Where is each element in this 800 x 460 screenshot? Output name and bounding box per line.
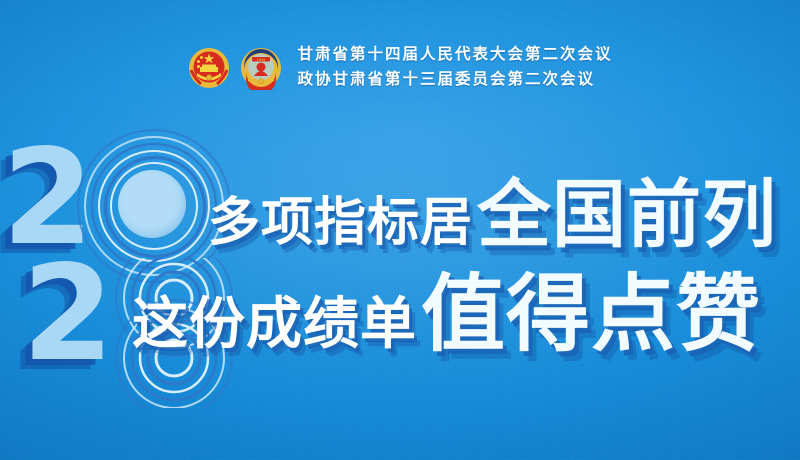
headline-line-2: 这份成绩单 值得点赞 [132, 272, 761, 356]
digit-0-ring-4 [91, 143, 217, 269]
headline-2-big: 值得点赞 [421, 272, 761, 356]
emblem-group: 1949 [187, 46, 283, 90]
headline-1-small: 多项指标居 [208, 197, 473, 249]
digit-0-ring-1 [110, 162, 198, 250]
header-line-cppcc: 政协甘肃省第十三届委员会第二次会议 [297, 69, 612, 91]
conference-header: 1949 甘肃省第十四届人民代表大会第二次会议 政协甘肃省第十三届委员会第二次会… [0, 44, 800, 91]
headline-line-1: 多项指标居 全国前列 [208, 178, 777, 252]
national-emblem-icon [187, 46, 231, 90]
header-line-npc: 甘肃省第十四届人民代表大会第二次会议 [297, 44, 612, 66]
cppcc-emblem-icon: 1949 [239, 46, 283, 90]
digit-0-core [118, 170, 186, 238]
poster-canvas: 2 2 [0, 0, 800, 460]
digit-0-ring-3 [98, 150, 210, 262]
decorative-digit-0 [96, 148, 208, 260]
header-title-group: 甘肃省第十四届人民代表大会第二次会议 政协甘肃省第十三届委员会第二次会议 [297, 44, 612, 91]
decorative-digit-2-bottom: 2 [22, 248, 114, 380]
digit-0-ring-2 [104, 156, 206, 258]
headline-1-big: 全国前列 [477, 178, 777, 252]
headline-2-small: 这份成绩单 [132, 296, 417, 352]
decorative-digit-2-top: 2 [2, 132, 94, 264]
digit-0-ring-5 [84, 136, 224, 276]
svg-text:1949: 1949 [257, 57, 266, 61]
